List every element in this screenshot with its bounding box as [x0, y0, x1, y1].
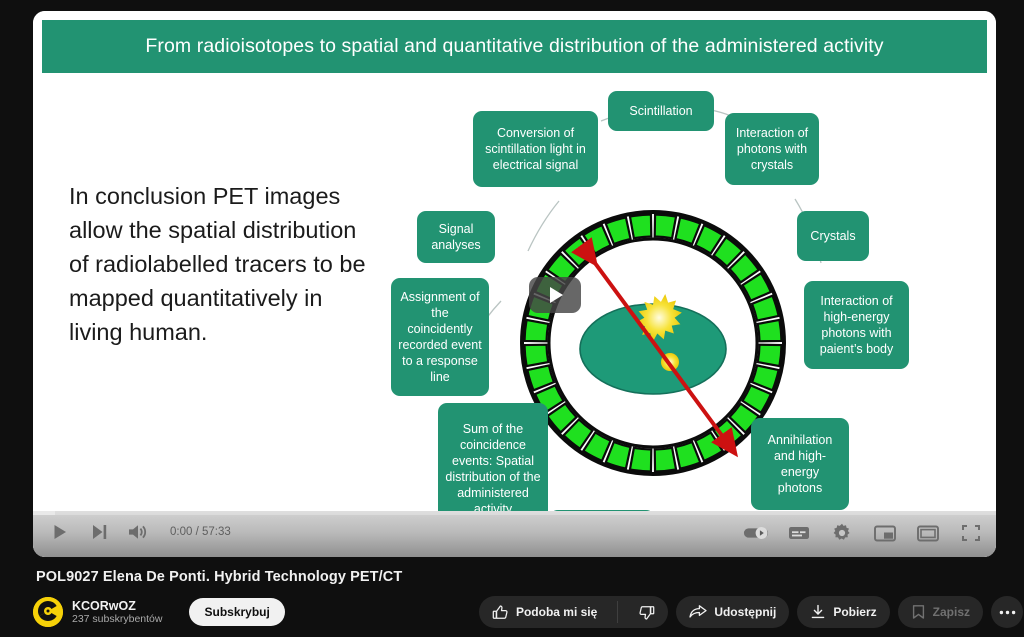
thumbs-up-icon	[492, 604, 509, 621]
node-label: Interaction of high-energy photons with …	[811, 293, 902, 357]
play-overlay-button[interactable]	[529, 277, 581, 313]
dislike-button[interactable]	[625, 596, 668, 628]
progress-bar-played	[33, 511, 55, 515]
theater-mode-button[interactable]	[915, 520, 941, 546]
more-horizontal-icon	[999, 610, 1016, 615]
progress-bar-rail[interactable]	[33, 511, 996, 515]
play-triangle-icon	[550, 287, 563, 303]
bookmark-icon	[911, 604, 926, 620]
channel-avatar[interactable]	[33, 597, 63, 627]
slide-banner: From radioisotopes to spatial and quanti…	[42, 20, 987, 73]
share-button[interactable]: Udostępnij	[676, 596, 789, 628]
node-label: Signal analyses	[424, 221, 488, 253]
node-label: Crystals	[810, 228, 855, 244]
like-button[interactable]: Podoba mi się	[479, 596, 610, 628]
thumbs-down-icon	[638, 604, 655, 621]
slide-conclusion-text: In conclusion PET images allow the spati…	[69, 179, 369, 349]
more-actions-button[interactable]	[991, 596, 1023, 628]
radiation-trefoil-icon	[33, 597, 63, 627]
slide-canvas: From radioisotopes to spatial and quanti…	[33, 11, 996, 557]
save-button[interactable]: Zapisz	[898, 596, 983, 628]
autoplay-toggle-icon	[743, 525, 769, 541]
download-icon	[810, 604, 826, 620]
fullscreen-button[interactable]	[958, 520, 984, 546]
node-label: Sum of the coincidence events: Spatial d…	[445, 421, 541, 517]
node-label: Assignment of the coincidently recorded …	[398, 289, 482, 385]
gear-icon	[832, 523, 852, 543]
next-video-button[interactable]	[86, 519, 112, 545]
node-label: Interaction of photons with crystals	[732, 125, 812, 173]
subscribe-button[interactable]: Subskrybuj	[189, 598, 284, 626]
miniplayer-icon	[874, 525, 896, 542]
node-interaction-body[interactable]: Interaction of high-energy photons with …	[804, 281, 909, 369]
controls-right-group	[743, 520, 984, 546]
save-label: Zapisz	[933, 605, 970, 619]
autoplay-toggle[interactable]	[743, 520, 769, 546]
node-label: Conversion of scintillation light in ele…	[480, 125, 591, 173]
fullscreen-icon	[961, 524, 981, 542]
download-button[interactable]: Pobierz	[797, 596, 889, 628]
video-player[interactable]: From radioisotopes to spatial and quanti…	[33, 11, 996, 557]
video-title: POL9027 Elena De Ponti. Hybrid Technolog…	[36, 569, 402, 585]
node-label: Annihilation and high-energy photons	[758, 432, 842, 496]
node-label: Scintillation	[629, 103, 692, 119]
controls-left-group: 0:00 / 57:33	[47, 519, 231, 545]
volume-button[interactable]	[125, 519, 151, 545]
node-annihilation[interactable]: Annihilation and high-energy photons	[751, 418, 849, 510]
node-signal-analyses[interactable]: Signal analyses	[417, 211, 495, 263]
channel-block[interactable]: KCORwOZ 237 subskrybentów Subskrybuj	[33, 597, 285, 627]
node-conversion[interactable]: Conversion of scintillation light in ele…	[473, 111, 598, 187]
pet-cycle-diagram: Scintillation Conversion of scintillatio…	[363, 73, 993, 553]
like-dislike-group: Podoba mi się	[479, 596, 668, 628]
video-action-buttons: Podoba mi się Udostępnij	[479, 596, 1023, 628]
channel-text-block: KCORwOZ 237 subskrybentów	[72, 599, 162, 625]
like-label: Podoba mi się	[516, 605, 597, 619]
play-button[interactable]	[47, 519, 73, 545]
node-crystals[interactable]: Crystals	[797, 211, 869, 261]
node-interaction-photons-crystals[interactable]: Interaction of photons with crystals	[725, 113, 819, 185]
next-track-icon	[89, 522, 109, 542]
video-meta-row: KCORwOZ 237 subskrybentów Subskrybuj Pod…	[33, 592, 1023, 632]
node-scintillation[interactable]: Scintillation	[608, 91, 714, 131]
share-arrow-icon	[689, 604, 707, 620]
closed-captions-icon	[788, 525, 810, 541]
theater-mode-icon	[917, 525, 939, 542]
subtitles-button[interactable]	[786, 520, 812, 546]
channel-name: KCORwOZ	[72, 599, 162, 613]
miniplayer-button[interactable]	[872, 520, 898, 546]
volume-icon	[127, 522, 149, 542]
download-label: Pobierz	[833, 605, 876, 619]
player-controls-bar: 0:00 / 57:33	[33, 511, 996, 557]
slide-banner-title: From radioisotopes to spatial and quanti…	[145, 35, 883, 58]
page-root: From radioisotopes to spatial and quanti…	[0, 0, 1024, 637]
time-display: 0:00 / 57:33	[170, 526, 231, 538]
like-dislike-divider	[617, 601, 618, 623]
play-icon	[50, 522, 70, 542]
share-label: Udostępnij	[714, 605, 776, 619]
settings-button[interactable]	[829, 520, 855, 546]
channel-subscriber-count: 237 subskrybentów	[72, 613, 162, 625]
node-assignment[interactable]: Assignment of the coincidently recorded …	[391, 278, 489, 396]
